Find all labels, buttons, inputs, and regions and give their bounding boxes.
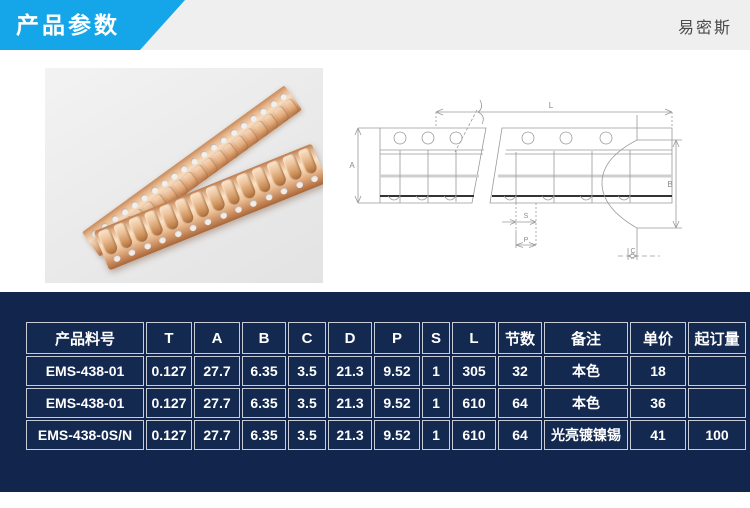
col-header-moq: 起订量 (688, 322, 746, 354)
cell-l: 305 (452, 356, 496, 386)
cell-p: 9.52 (374, 356, 420, 386)
table-row: EMS-438-0S/N 0.127 27.7 6.35 3.5 21.3 9.… (26, 420, 746, 450)
cell-b: 6.35 (242, 388, 286, 418)
cell-moq (688, 356, 746, 386)
cell-b: 6.35 (242, 356, 286, 386)
cell-b: 6.35 (242, 420, 286, 450)
cell-price: 41 (630, 420, 686, 450)
col-header-l: L (452, 322, 496, 354)
cell-t: 0.127 (146, 388, 192, 418)
hole (560, 132, 572, 144)
dim-label-profile-height: B (667, 180, 672, 189)
col-header-part: 产品料号 (26, 322, 144, 354)
brand-name: 易密斯 (678, 14, 732, 38)
hole (422, 132, 434, 144)
col-header-d: D (328, 322, 372, 354)
cell-s: 1 (422, 420, 450, 450)
dim-label-profile-base: C (630, 248, 635, 255)
col-header-note: 备注 (544, 322, 628, 354)
spec-panel: 产品料号 T A B C D P S L 节数 备注 单价 起订量 EMS-43… (0, 292, 750, 492)
profile-curve (602, 115, 637, 248)
cell-d: 21.3 (328, 420, 372, 450)
cell-c: 3.5 (288, 388, 326, 418)
technical-drawing: L A S P B C (340, 70, 740, 280)
cell-d: 21.3 (328, 388, 372, 418)
strip-body-left (380, 128, 486, 203)
col-header-p: P (374, 322, 420, 354)
cell-l: 610 (452, 388, 496, 418)
hole (522, 132, 534, 144)
col-header-b: B (242, 322, 286, 354)
cell-d: 21.3 (328, 356, 372, 386)
cell-t: 0.127 (146, 356, 192, 386)
col-header-t: T (146, 322, 192, 354)
col-header-c: C (288, 322, 326, 354)
dim-label-slot: S (524, 213, 529, 220)
cell-p: 9.52 (374, 420, 420, 450)
table-row: EMS-438-01 0.127 27.7 6.35 3.5 21.3 9.52… (26, 356, 746, 386)
cell-moq (688, 388, 746, 418)
cell-c: 3.5 (288, 420, 326, 450)
cell-part: EMS-438-01 (26, 388, 144, 418)
cell-moq: 100 (688, 420, 746, 450)
col-header-nodes: 节数 (498, 322, 542, 354)
dim-label-pitch: P (524, 237, 529, 244)
col-header-price: 单价 (630, 322, 686, 354)
col-header-s: S (422, 322, 450, 354)
cell-c: 3.5 (288, 356, 326, 386)
table-header-row: 产品料号 T A B C D P S L 节数 备注 单价 起订量 (26, 322, 746, 354)
cell-price: 18 (630, 356, 686, 386)
cell-a: 27.7 (194, 388, 240, 418)
spec-table: 产品料号 T A B C D P S L 节数 备注 单价 起订量 EMS-43… (24, 320, 748, 452)
dim-label-length: L (549, 101, 554, 110)
drawing-svg: L A S P B C (340, 70, 740, 280)
col-header-a: A (194, 322, 240, 354)
cell-a: 27.7 (194, 356, 240, 386)
cell-a: 27.7 (194, 420, 240, 450)
section-title: 产品参数 (16, 10, 120, 40)
cell-t: 0.127 (146, 420, 192, 450)
cell-s: 1 (422, 356, 450, 386)
cell-note: 本色 (544, 356, 628, 386)
cell-s: 1 (422, 388, 450, 418)
hole (600, 132, 612, 144)
cell-part: EMS-438-01 (26, 356, 144, 386)
product-photo (45, 68, 323, 283)
cell-l: 610 (452, 420, 496, 450)
strip-body-right (490, 128, 672, 203)
cell-nodes: 64 (498, 388, 542, 418)
cell-price: 36 (630, 388, 686, 418)
table-row: EMS-438-01 0.127 27.7 6.35 3.5 21.3 9.52… (26, 388, 746, 418)
page-header: 产品参数 易密斯 (0, 0, 750, 50)
hole (394, 132, 406, 144)
dim-label-height: A (349, 161, 355, 170)
cell-note: 本色 (544, 388, 628, 418)
cell-nodes: 32 (498, 356, 542, 386)
cell-note: 光亮镀镍锡 (544, 420, 628, 450)
cell-p: 9.52 (374, 388, 420, 418)
cell-nodes: 64 (498, 420, 542, 450)
cell-part: EMS-438-0S/N (26, 420, 144, 450)
